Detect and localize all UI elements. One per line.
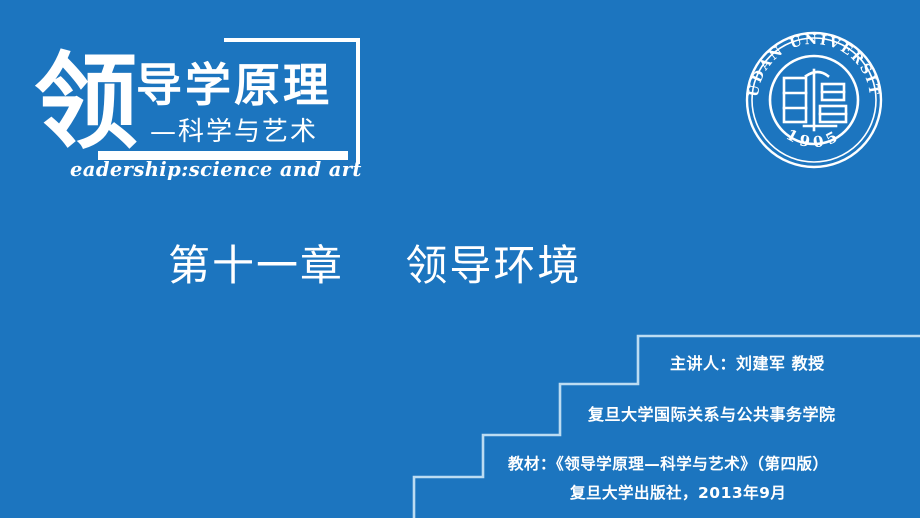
fudan-university-seal-icon: FUDAN UNIVERSITY 1905 [740, 26, 888, 174]
page-title: 第十一章 领导环境 [168, 240, 581, 292]
logo-leading-character: 领 [34, 50, 138, 154]
logo-main-title: 导学原理 [136, 62, 332, 108]
presentation-slide: 导学原理 —科学与艺术 领 eadership:science and art … [0, 0, 920, 518]
credit-school: 复旦大学国际关系与公共事务学院 [588, 401, 836, 425]
logo-sub-title: —科学与艺术 [150, 119, 318, 145]
credit-textbook: 教材：《领导学原理—科学与艺术》（第四版） [508, 452, 829, 474]
logo-english-subtitle: eadership:science and art [70, 158, 362, 182]
credit-publisher: 复旦大学出版社，2013年9月 [570, 481, 786, 503]
credit-lecturer: 主讲人：刘建军 教授 [670, 350, 825, 374]
svg-text:FUDAN UNIVERSITY: FUDAN UNIVERSITY [740, 26, 882, 98]
course-logo: 导学原理 —科学与艺术 领 eadership:science and art [38, 34, 338, 186]
